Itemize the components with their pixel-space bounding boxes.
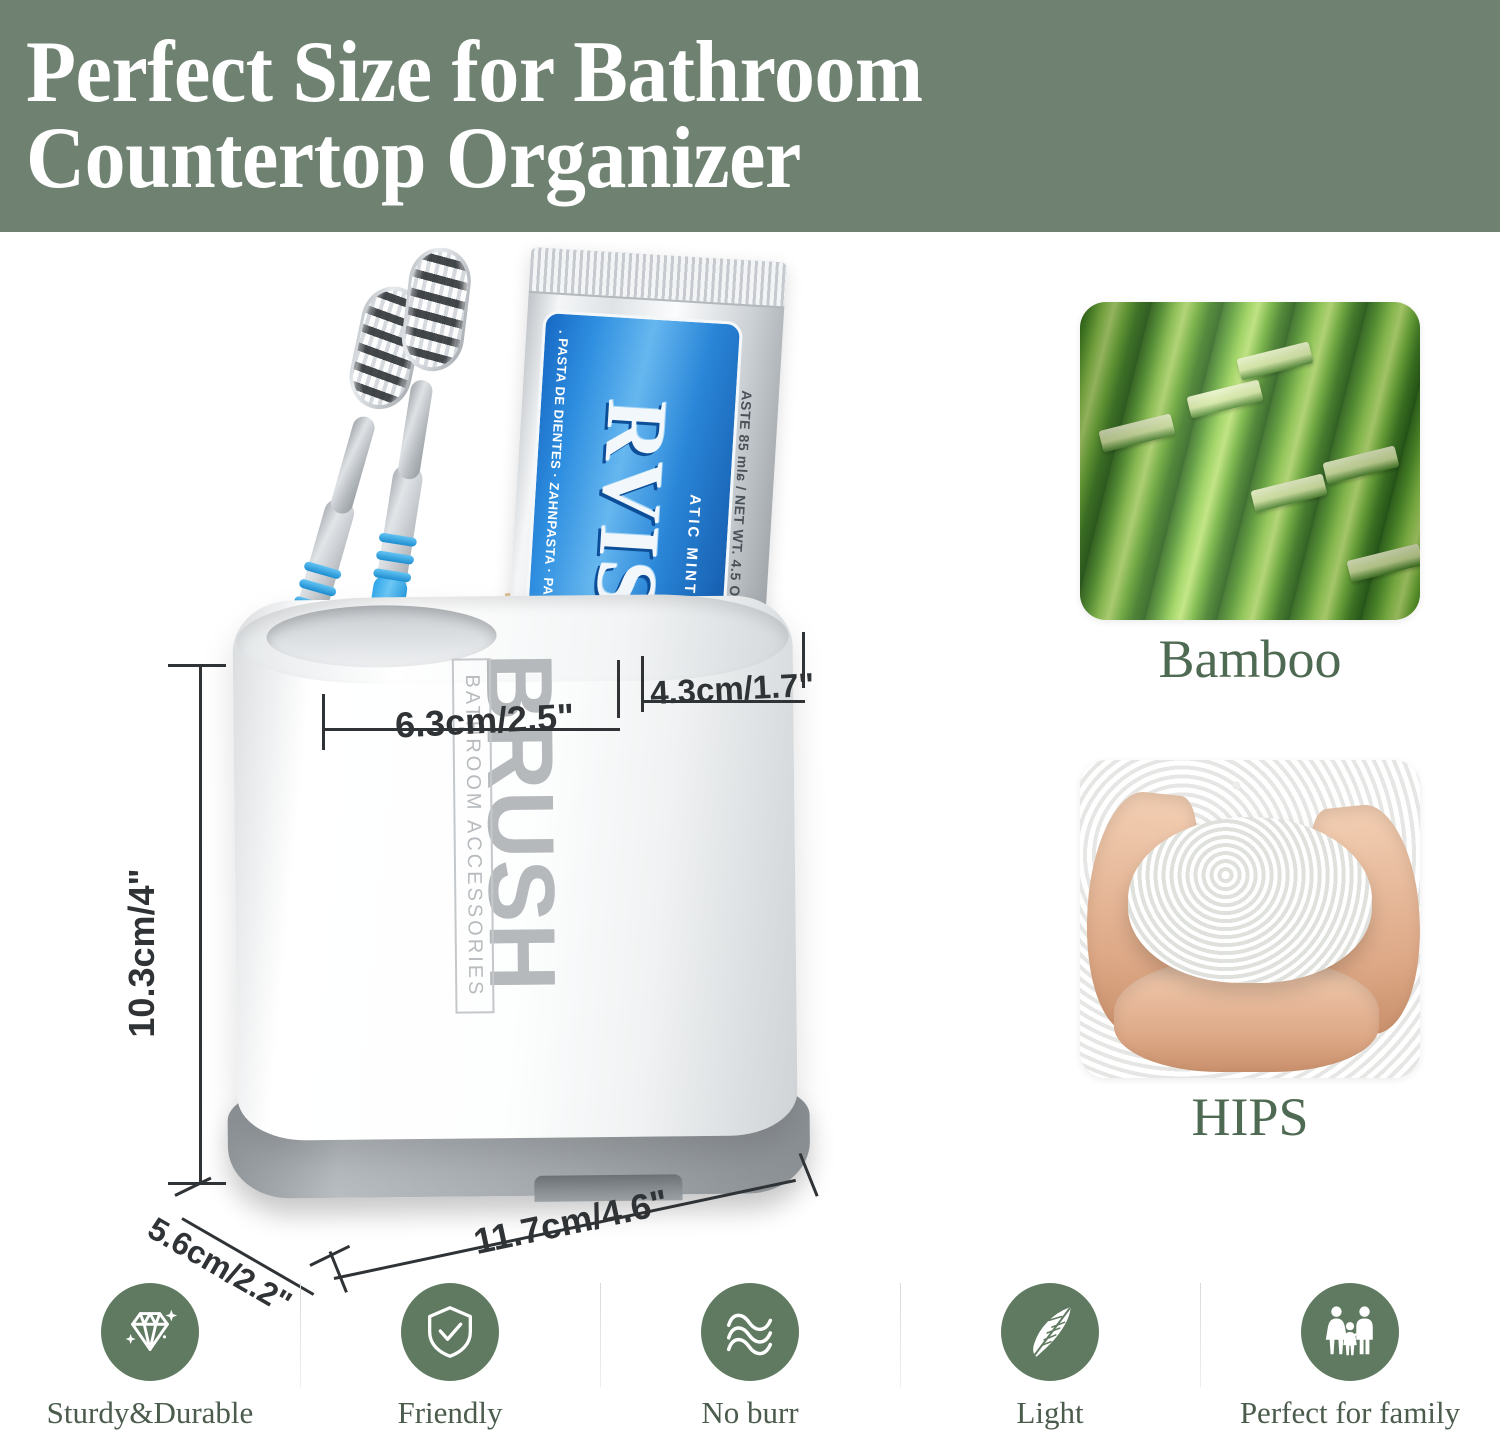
material-card-hips: HIPS [1080,760,1420,1148]
dimension-tick [641,656,644,712]
pellet-pile [1128,817,1373,982]
dimension-tick [168,664,226,667]
main-stage: RVIS . PASTA DE DIENTES · ZAHNPASTA · PA… [0,232,1500,1277]
product-scene: RVIS . PASTA DE DIENTES · ZAHNPASTA · PA… [0,232,1050,1277]
feature-label: No burr [701,1395,798,1431]
feature-light: Light [900,1277,1200,1451]
feature-sturdy-durable: Sturdy&Durable [0,1277,300,1451]
feature-no-burr: No burr [600,1277,900,1451]
dimension-tick [799,1153,819,1197]
header-title-line-1: Perfect Size for Bathroom [26,30,1397,116]
feature-icon-circle [401,1283,499,1381]
hips-pellets-image [1080,760,1420,1078]
tube-crimp-seal [529,247,787,309]
feature-icon-circle [1301,1283,1399,1381]
feature-label: Friendly [397,1395,502,1431]
bamboo-photo [1080,302,1420,620]
feature-label: Perfect for family [1240,1395,1460,1431]
feature-friendly: Friendly [300,1277,600,1451]
header-title-line-2: Countertop Organizer [26,116,1397,202]
dimension-tick [322,694,325,750]
diamond-icon [119,1301,181,1363]
dimension-label-height: 10.3cm/4" [121,868,163,1037]
feature-label: Light [1016,1395,1083,1431]
toothbrush-head [398,244,475,375]
family-icon [1319,1301,1381,1363]
waves-icon [719,1301,781,1363]
feature-perfect-for-family: Perfect for family [1200,1277,1500,1451]
hips-photo [1080,760,1420,1078]
feather-icon [1019,1301,1081,1363]
toothbrush-neck [328,414,377,516]
toothbrush-neck [397,379,434,481]
tube-brand-text: RVIS [578,397,687,613]
material-card-bamboo: Bamboo [1080,302,1420,690]
feature-icon-circle [101,1283,199,1381]
dimension-tick [617,660,620,718]
tube-flavor-text: ATIC MINT [680,494,703,597]
feature-label: Sturdy&Durable [47,1395,254,1431]
bamboo-stalks-image [1080,302,1420,620]
dimension-tick [174,1177,211,1197]
shield-check-icon [419,1301,481,1363]
toothbrush-bristles [402,248,472,370]
feature-icon-circle [701,1283,799,1381]
material-label-bamboo: Bamboo [1080,628,1420,690]
header-banner: Perfect Size for Bathroom Countertop Org… [0,0,1500,232]
bamboo-shading-overlay [1080,302,1420,620]
tube-brand-wrap: RVIS [576,396,689,612]
feature-icon-circle [1001,1283,1099,1381]
dimension-line [199,664,202,1184]
material-label-hips: HIPS [1080,1086,1420,1148]
feature-strip: Sturdy&Durable Friendly No burr [0,1277,1500,1451]
